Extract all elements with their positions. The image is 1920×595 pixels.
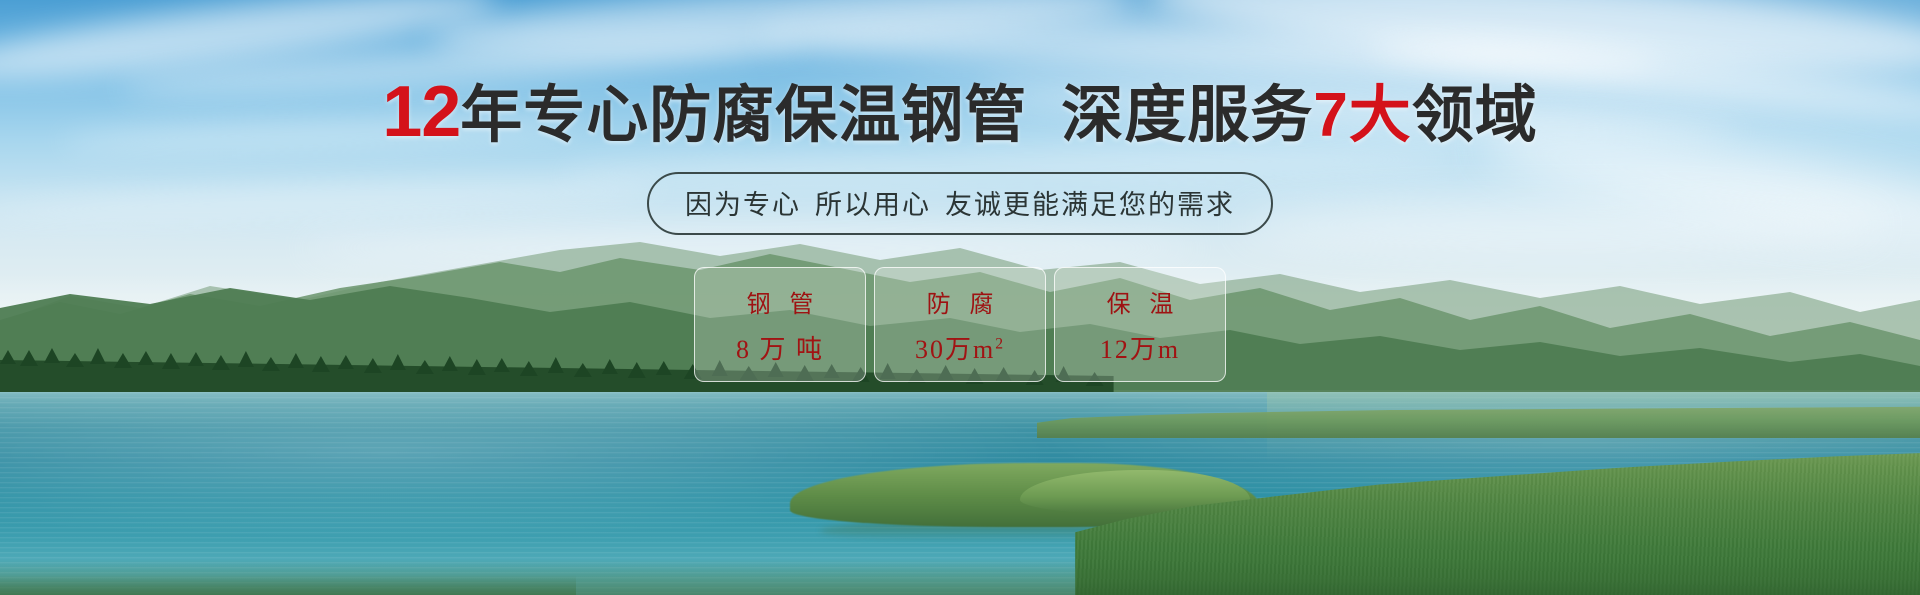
subtitle-segment-3: 友诚更能满足您的需求: [945, 190, 1235, 220]
subtitle-pill: 因为专心所以用心友诚更能满足您的需求: [647, 172, 1273, 235]
headline: 12年专心防腐保温钢管深度服务7大领域: [382, 76, 1538, 148]
subtitle-segment-2: 所以用心: [815, 190, 931, 220]
stat-card-value-text: 30万m: [915, 335, 995, 364]
headline-highlight: 7大: [1313, 81, 1411, 150]
stat-card-value-text: 8 万 吨: [736, 335, 824, 364]
stat-card-group: 钢 管 8 万 吨 防 腐 30万m2 保 温 12万m: [694, 267, 1226, 382]
subtitle-segment-1: 因为专心: [685, 190, 801, 220]
stat-card-value: 30万m2: [915, 329, 1005, 366]
stat-card-steel-pipe[interactable]: 钢 管 8 万 吨: [694, 267, 866, 382]
stat-card-value: 12万m: [1100, 329, 1180, 366]
stat-card-value: 8 万 吨: [736, 329, 824, 366]
headline-years-number: 12: [382, 72, 460, 152]
stat-card-anticorrosion[interactable]: 防 腐 30万m2: [874, 267, 1046, 382]
headline-part-3: 领域: [1412, 81, 1538, 150]
stat-card-title: 钢 管: [741, 284, 820, 319]
stat-card-insulation[interactable]: 保 温 12万m: [1054, 267, 1226, 382]
headline-part-1: 年专心防腐保温钢管: [460, 81, 1027, 150]
banner-content: 12年专心防腐保温钢管深度服务7大领域 因为专心所以用心友诚更能满足您的需求 钢…: [0, 0, 1920, 595]
stat-card-value-text: 12万m: [1100, 335, 1180, 364]
promo-banner: 12年专心防腐保温钢管深度服务7大领域 因为专心所以用心友诚更能满足您的需求 钢…: [0, 0, 1920, 595]
stat-card-title: 防 腐: [921, 284, 1000, 319]
headline-part-2: 深度服务: [1061, 81, 1313, 150]
stat-card-title: 保 温: [1101, 284, 1180, 319]
stat-card-value-unit: 2: [995, 335, 1005, 352]
